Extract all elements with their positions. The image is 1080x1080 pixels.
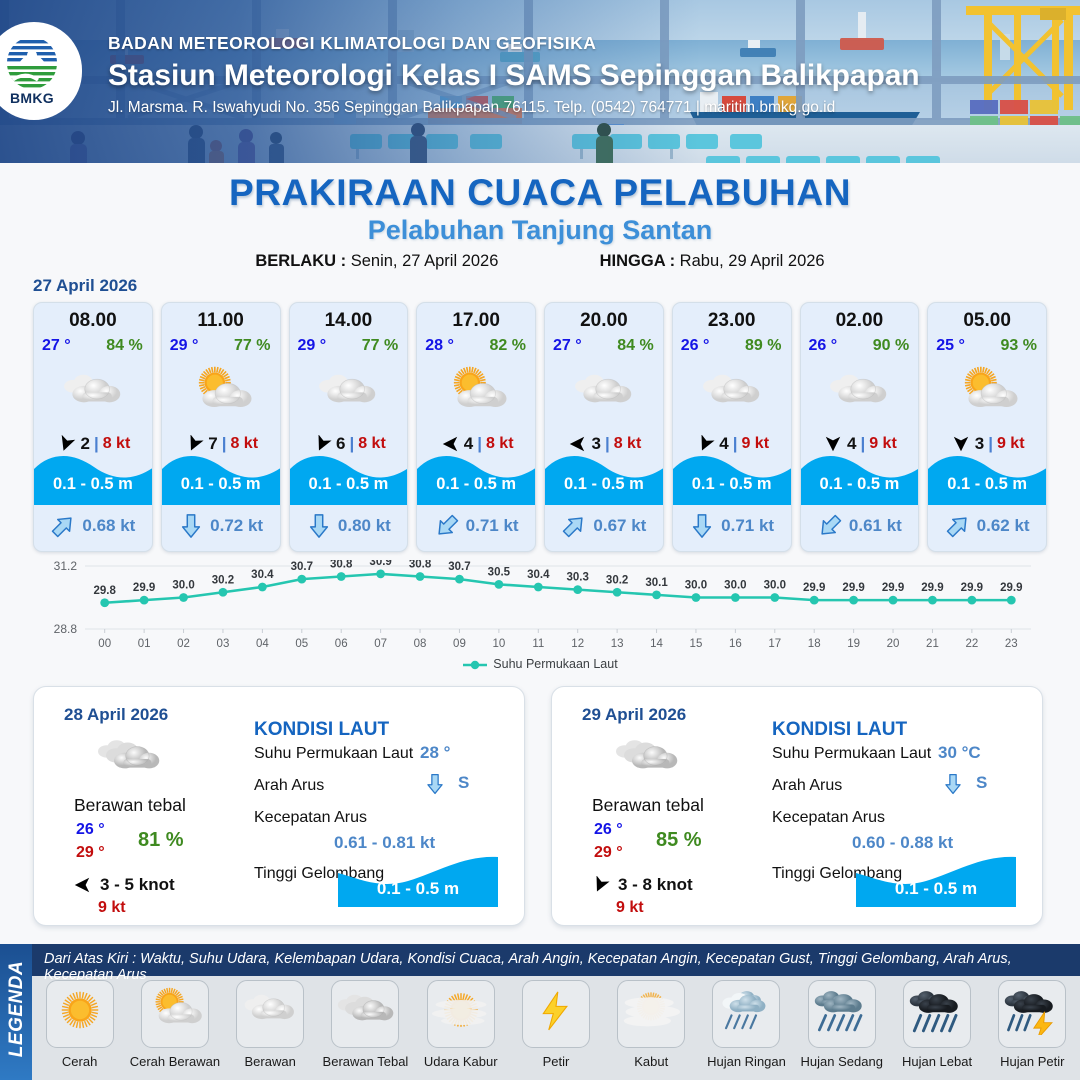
legend-item: Petir	[508, 980, 603, 1080]
sea-condition-title: KONDISI LAUT	[772, 719, 907, 741]
svg-text:30.2: 30.2	[212, 574, 234, 586]
current-row: 0.80 kt	[290, 511, 408, 541]
current-row: 0.62 kt	[928, 511, 1046, 541]
current-direction-label: Arah Arus	[254, 777, 324, 795]
svg-text:30.4: 30.4	[527, 569, 550, 581]
svg-text:17: 17	[768, 638, 781, 650]
forecast-humidity: 82 %	[490, 337, 526, 355]
svg-text:30.1: 30.1	[645, 577, 668, 589]
legend-item-label: Berawan	[223, 1054, 318, 1069]
weather-condition-icon	[417, 361, 535, 423]
svg-text:29.9: 29.9	[133, 582, 155, 594]
svg-text:03: 03	[217, 638, 230, 650]
forecast-time: 11.00	[162, 310, 280, 332]
legend-item: Cerah	[32, 980, 127, 1080]
legend-icon-petir	[522, 980, 590, 1048]
svg-text:30.8: 30.8	[409, 560, 432, 571]
legend-item-label: Berawan Tebal	[318, 1054, 413, 1069]
svg-text:02: 02	[177, 638, 190, 650]
wave-height-value: 0.1 - 0.5 m	[162, 475, 280, 494]
svg-text:04: 04	[256, 638, 269, 650]
day-wave-value: 0.1 - 0.5 m	[856, 879, 1016, 899]
forecast-humidity: 84 %	[617, 337, 653, 355]
current-speed-value: 0.71 kt	[466, 516, 519, 536]
forecast-card: 23.00 26 ° 89 % 4 | 9 kt 0.1 - 0.5 m	[672, 302, 792, 552]
station-name: Stasiun Meteorologi Kelas I SAMS Sepingg…	[108, 59, 920, 93]
legend-item: Hujan Lebat	[889, 980, 984, 1080]
day-humidity: 81 %	[138, 829, 184, 852]
wave-height-value: 0.1 - 0.5 m	[34, 475, 152, 494]
legend-icon-cerah	[46, 980, 114, 1048]
svg-text:30.4: 30.4	[251, 569, 274, 581]
svg-text:00: 00	[98, 638, 111, 650]
bmkg-logo-icon	[6, 36, 58, 90]
day-panel-29: 29 April 2026 Berawan tebal 26 ° 29 ° 85…	[551, 686, 1043, 926]
svg-text:30.0: 30.0	[685, 580, 707, 592]
current-row: 0.71 kt	[673, 511, 791, 541]
current-direction-icon	[817, 513, 843, 539]
wave-height-value: 0.1 - 0.5 m	[545, 475, 663, 494]
current-row: 0.72 kt	[162, 511, 280, 541]
current-speed-value: 0.61 - 0.81 kt	[334, 833, 435, 853]
svg-text:30.3: 30.3	[567, 572, 589, 584]
day-temp-max: 29 °	[594, 844, 623, 862]
svg-text:30.5: 30.5	[488, 566, 511, 578]
legend-item-label: Cerah Berawan	[127, 1054, 222, 1069]
svg-text:30.0: 30.0	[724, 580, 746, 592]
forecast-humidity: 77 %	[362, 337, 398, 355]
svg-text:30.2: 30.2	[606, 574, 628, 586]
legend-side-label: LEGENDA	[0, 944, 32, 1080]
svg-text:29.9: 29.9	[803, 582, 825, 594]
current-speed-value: 0.60 - 0.88 kt	[852, 833, 953, 853]
legend-icon-berawan	[236, 980, 304, 1048]
bmkg-logo-text: BMKG	[0, 90, 78, 106]
weather-condition-icon	[673, 361, 791, 423]
current-direction-icon	[50, 513, 76, 539]
legend-item-label: Kabut	[604, 1054, 699, 1069]
wave-height-value: 0.1 - 0.5 m	[928, 475, 1046, 494]
current-direction-value: S	[458, 773, 469, 793]
sst-label: Suhu Permukaan Laut	[254, 745, 413, 763]
svg-text:29.9: 29.9	[882, 582, 904, 594]
legend-note-bar: Dari Atas Kiri : Waktu, Suhu Udara, Kele…	[32, 944, 1080, 976]
legend-item-label: Cerah	[32, 1054, 127, 1069]
wave-height-value: 0.1 - 0.5 m	[417, 475, 535, 494]
legend-item: Udara Kabur	[413, 980, 508, 1080]
legend-item-label: Hujan Sedang	[794, 1054, 889, 1069]
forecast-card: 11.00 29 ° 77 % 7 | 8 kt 0.1 - 0.5 m 0.7…	[161, 302, 281, 552]
agency-name: BADAN METEOROLOGI KLIMATOLOGI DAN GEOFIS…	[108, 33, 596, 54]
weather-condition-icon	[34, 361, 152, 423]
day-weather-icon	[610, 731, 682, 783]
day-condition: Berawan tebal	[74, 795, 186, 816]
legend-item: Hujan Petir	[985, 980, 1080, 1080]
forecast-temperature: 29 °	[298, 337, 327, 355]
forecast-temperature: 27 °	[553, 337, 582, 355]
valid-from-value: Senin, 27 April 2026	[351, 252, 499, 270]
day-wind-direction-icon	[588, 876, 612, 894]
forecast-time: 17.00	[417, 310, 535, 332]
svg-text:30.7: 30.7	[291, 561, 313, 573]
forecast-temperature: 29 °	[170, 337, 199, 355]
svg-text:19: 19	[847, 638, 860, 650]
svg-text:13: 13	[611, 638, 624, 650]
day-temp-min: 26 °	[76, 821, 105, 839]
sst-value: 28 °	[420, 743, 450, 763]
forecast-humidity: 77 %	[234, 337, 270, 355]
forecast-time: 23.00	[673, 310, 791, 332]
day-wind-direction-icon	[70, 876, 94, 894]
svg-text:30.8: 30.8	[330, 560, 353, 571]
current-direction-icon	[945, 513, 971, 539]
svg-text:31.2: 31.2	[54, 560, 78, 573]
current-direction-value: S	[976, 773, 987, 793]
forecast-card: 08.00 27 ° 84 % 2 | 8 kt 0.1 - 0.5 m	[33, 302, 153, 552]
svg-text:30.9: 30.9	[369, 560, 391, 568]
chart-legend: Suhu Permukaan Laut	[33, 657, 1047, 671]
current-speed-label: Kecepatan Arus	[254, 809, 367, 827]
forecast-humidity: 90 %	[873, 337, 909, 355]
day-temp-max: 29 °	[76, 844, 105, 862]
forecast-card: 20.00 27 ° 84 % 3 | 8 kt 0.1 - 0.5 m	[544, 302, 664, 552]
legend-item: Kabut	[604, 980, 699, 1080]
page-header: BMKG BADAN METEOROLOGI KLIMATOLOGI DAN G…	[0, 0, 1080, 163]
valid-until-label: HINGGA :	[600, 252, 675, 270]
svg-text:30.7: 30.7	[448, 561, 470, 573]
current-speed-value: 0.80 kt	[338, 516, 391, 536]
svg-text:29.9: 29.9	[842, 582, 864, 594]
svg-text:11: 11	[532, 638, 544, 650]
wave-height-value: 0.1 - 0.5 m	[673, 475, 791, 494]
legend-item-label: Hujan Petir	[985, 1054, 1080, 1069]
current-speed-value: 0.62 kt	[977, 516, 1030, 536]
forecast-time: 20.00	[545, 310, 663, 332]
current-row: 0.71 kt	[417, 511, 535, 541]
svg-text:21: 21	[926, 638, 939, 650]
svg-text:29.9: 29.9	[1000, 582, 1022, 594]
legend-section: LEGENDA Dari Atas Kiri : Waktu, Suhu Uda…	[0, 944, 1080, 1080]
station-address: Jl. Marsma. R. Iswahyudi No. 356 Sepingg…	[108, 99, 835, 117]
forecast-temperature: 26 °	[681, 337, 710, 355]
legend-icon-list: Cerah Cerah Berawan Berawan	[32, 980, 1080, 1080]
page-subtitle: Pelabuhan Tanjung Santan	[0, 215, 1080, 246]
svg-text:23: 23	[1005, 638, 1018, 650]
current-row: 0.61 kt	[801, 511, 919, 541]
svg-text:10: 10	[492, 638, 505, 650]
legend-icon-berawan-tebal	[331, 980, 399, 1048]
forecast-date-header: 27 April 2026	[33, 276, 137, 296]
sst-label: Suhu Permukaan Laut	[772, 745, 931, 763]
day-wave-value: 0.1 - 0.5 m	[338, 879, 498, 899]
day-wind-row: 3 - 5 knot	[70, 875, 175, 895]
svg-text:20: 20	[887, 638, 900, 650]
forecast-time: 14.00	[290, 310, 408, 332]
weather-condition-icon	[801, 361, 919, 423]
forecast-temperature: 27 °	[42, 337, 71, 355]
svg-text:09: 09	[453, 638, 466, 650]
svg-text:07: 07	[374, 638, 387, 650]
legend-icon-hujan-ringan	[712, 980, 780, 1048]
current-direction-icon	[434, 513, 460, 539]
forecast-card: 14.00 29 ° 77 % 6 | 8 kt 0.1 - 0.5 m	[289, 302, 409, 552]
weather-condition-icon	[162, 361, 280, 423]
forecast-time: 08.00	[34, 310, 152, 332]
forecast-card: 05.00 25 ° 93 % 3 | 9 kt 0.1 - 0.5 m 0.6…	[927, 302, 1047, 552]
legend-note-text: Dari Atas Kiri : Waktu, Suhu Udara, Kele…	[44, 951, 1080, 983]
valid-until-value: Rabu, 29 April 2026	[680, 252, 825, 270]
page-title: PRAKIRAAN CUACA PELABUHAN	[0, 172, 1080, 214]
current-speed-value: 0.61 kt	[849, 516, 902, 536]
forecast-time: 05.00	[928, 310, 1046, 332]
current-row: 0.68 kt	[34, 511, 152, 541]
sst-chart: 31.228.800010203040506070809101112131415…	[33, 560, 1047, 680]
legend-item-label: Hujan Lebat	[889, 1054, 984, 1069]
forecast-temperature: 28 °	[425, 337, 454, 355]
current-direction-icon	[942, 771, 964, 797]
wave-height-value: 0.1 - 0.5 m	[801, 475, 919, 494]
svg-text:18: 18	[808, 638, 821, 650]
weather-condition-icon	[290, 361, 408, 423]
chart-legend-swatch	[462, 659, 488, 671]
legend-icon-hujan-sedang	[808, 980, 876, 1048]
forecast-temperature: 26 °	[809, 337, 838, 355]
current-speed-value: 0.68 kt	[82, 516, 135, 536]
svg-text:08: 08	[414, 638, 427, 650]
forecast-temperature: 25 °	[936, 337, 965, 355]
forecast-card: 17.00 28 ° 82 % 4 | 8 kt 0.1 - 0.5 m 0.7…	[416, 302, 536, 552]
svg-text:29.9: 29.9	[961, 582, 983, 594]
day-humidity: 85 %	[656, 829, 702, 852]
forecast-card-list: 08.00 27 ° 84 % 2 | 8 kt 0.1 - 0.5 m	[33, 302, 1047, 552]
day-gust: 9 kt	[98, 899, 126, 917]
current-speed-value: 0.71 kt	[721, 516, 774, 536]
legend-side-text: LEGENDA	[6, 950, 28, 1068]
legend-icon-hujan-petir	[998, 980, 1066, 1048]
legend-item-label: Hujan Ringan	[699, 1054, 794, 1069]
day-date: 29 April 2026	[582, 705, 686, 725]
day-condition: Berawan tebal	[592, 795, 704, 816]
sea-condition-title: KONDISI LAUT	[254, 719, 389, 741]
day-date: 28 April 2026	[64, 705, 168, 725]
current-direction-icon	[306, 513, 332, 539]
forecast-card: 02.00 26 ° 90 % 4 | 9 kt 0.1 - 0.5 m	[800, 302, 920, 552]
legend-icon-udara-kabur	[427, 980, 495, 1048]
svg-text:05: 05	[295, 638, 308, 650]
sst-value: 30 °C	[938, 743, 981, 763]
day-wind-row: 3 - 8 knot	[588, 875, 693, 895]
valid-from-label: BERLAKU :	[255, 252, 346, 270]
sst-chart-plot: 31.228.800010203040506070809101112131415…	[33, 560, 1047, 655]
legend-icon-kabut	[617, 980, 685, 1048]
weather-condition-icon	[545, 361, 663, 423]
forecast-time: 02.00	[801, 310, 919, 332]
current-row: 0.67 kt	[545, 511, 663, 541]
day-weather-icon	[92, 731, 164, 783]
legend-item: Hujan Ringan	[699, 980, 794, 1080]
weather-condition-icon	[928, 361, 1046, 423]
legend-item: Cerah Berawan	[127, 980, 222, 1080]
svg-text:12: 12	[571, 638, 584, 650]
current-speed-value: 0.72 kt	[210, 516, 263, 536]
day-panel-28: 28 April 2026 Berawan tebal 26 ° 29 ° 81…	[33, 686, 525, 926]
day-gust: 9 kt	[616, 899, 644, 917]
svg-text:30.0: 30.0	[172, 580, 194, 592]
current-direction-icon	[424, 771, 446, 797]
day-wind-speed: 3 - 8 knot	[618, 875, 693, 895]
legend-item-label: Petir	[508, 1054, 603, 1069]
legend-item: Hujan Sedang	[794, 980, 889, 1080]
day-wind-speed: 3 - 5 knot	[100, 875, 175, 895]
svg-text:15: 15	[690, 638, 703, 650]
svg-text:29.8: 29.8	[94, 585, 117, 597]
current-direction-icon	[689, 513, 715, 539]
svg-text:16: 16	[729, 638, 742, 650]
forecast-humidity: 89 %	[745, 337, 781, 355]
forecast-humidity: 93 %	[1001, 337, 1037, 355]
current-speed-label: Kecepatan Arus	[772, 809, 885, 827]
current-direction-icon	[561, 513, 587, 539]
chart-legend-label: Suhu Permukaan Laut	[493, 657, 617, 671]
svg-text:30.0: 30.0	[764, 580, 786, 592]
svg-text:14: 14	[650, 638, 663, 650]
legend-item: Berawan	[223, 980, 318, 1080]
current-direction-label: Arah Arus	[772, 777, 842, 795]
svg-text:28.8: 28.8	[54, 622, 78, 636]
svg-text:06: 06	[335, 638, 348, 650]
validity-row: BERLAKU : Senin, 27 April 2026 HINGGA : …	[0, 252, 1080, 271]
legend-icon-cerah-berawan	[141, 980, 209, 1048]
forecast-humidity: 84 %	[106, 337, 142, 355]
svg-text:22: 22	[965, 638, 978, 650]
legend-icon-hujan-lebat	[903, 980, 971, 1048]
wave-height-value: 0.1 - 0.5 m	[290, 475, 408, 494]
current-direction-icon	[178, 513, 204, 539]
legend-item: Berawan Tebal	[318, 980, 413, 1080]
day-temp-min: 26 °	[594, 821, 623, 839]
svg-text:01: 01	[138, 638, 151, 650]
legend-item-label: Udara Kabur	[413, 1054, 508, 1069]
current-speed-value: 0.67 kt	[593, 516, 646, 536]
svg-text:29.9: 29.9	[921, 582, 943, 594]
